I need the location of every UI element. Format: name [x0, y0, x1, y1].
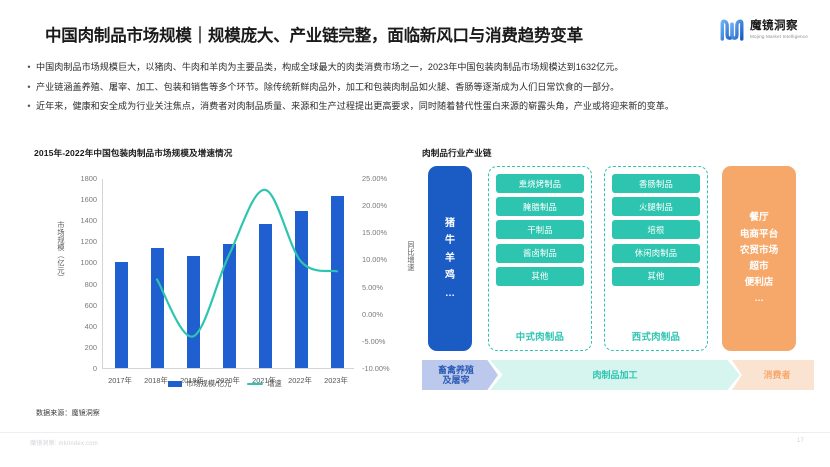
- legend-swatch-line-icon: [247, 383, 263, 385]
- y-tick-right: 5.00%: [362, 283, 404, 292]
- slide: 中国肉制品市场规模｜规模庞大、产业链完整，面临新风口与消费趋势变革 魔镜洞察 M…: [0, 0, 830, 467]
- bullet-list: • 中国肉制品市场规模巨大，以猪肉、牛肉和羊肉为主要品类，构成全球最大的肉类消费…: [22, 60, 817, 119]
- legend-item-bar: 市场规模/亿元: [168, 379, 231, 389]
- chain-chip: 干制品: [496, 220, 584, 239]
- downstream-column: 餐厅电商平台农贸市场超市便利店…: [722, 166, 796, 351]
- growth-line: [157, 190, 337, 337]
- growth-line-series: [103, 179, 355, 369]
- value-chain-title: 肉制品行业产业链: [422, 147, 814, 159]
- ribbon-segment-upstream: 畜禽养殖及屠宰: [422, 360, 498, 390]
- chain-chip: 酱卤制品: [496, 244, 584, 263]
- legend-item-line: 增速: [247, 379, 281, 389]
- page-title: 中国肉制品市场规模｜规模庞大、产业链完整，面临新风口与消费趋势变革: [45, 22, 583, 46]
- chart-source-note: 数据来源：魔镜洞察: [36, 408, 100, 418]
- y-tick-left: 1400: [67, 216, 97, 225]
- y-tick-left: 1800: [67, 174, 97, 183]
- chart-area: 市场规模（亿元） 同比增速 02004006008001000120014001…: [34, 163, 416, 395]
- chart-title: 2015年-2022年中国包装肉制品市场规模及增速情况: [34, 147, 416, 159]
- bullet-marker-icon: •: [22, 80, 36, 95]
- downstream-item: …: [754, 294, 764, 304]
- upstream-item: …: [445, 289, 455, 299]
- legend-swatch-bar-icon: [168, 381, 182, 387]
- western-meat-group: 香肠制品火腿制品培根休闲肉制品其他 西式肉制品: [604, 166, 708, 351]
- chain-chip: 培根: [612, 220, 700, 239]
- chain-chip: 火腿制品: [612, 197, 700, 216]
- upstream-item: 羊: [445, 254, 455, 264]
- y-tick-left: 1200: [67, 237, 97, 246]
- downstream-item: 农贸市场: [740, 246, 778, 256]
- y-axis-left-label: 市场规模（亿元）: [52, 221, 65, 282]
- y-tick-right: 15.00%: [362, 228, 404, 237]
- slide-header: 中国肉制品市场规模｜规模庞大、产业链完整，面临新风口与消费趋势变革 魔镜洞察 M…: [0, 0, 830, 56]
- y-tick-left: 800: [67, 280, 97, 289]
- y-tick-left: 1600: [67, 195, 97, 204]
- bullet-item: • 产业链涵盖养殖、屠宰、加工、包装和销售等多个环节。除传统新鲜肉品外，加工和包…: [22, 80, 817, 95]
- bullet-text: 产业链涵盖养殖、屠宰、加工、包装和销售等多个环节。除传统新鲜肉品外，加工和包装肉…: [36, 80, 817, 95]
- legend-label-line: 增速: [267, 379, 281, 389]
- bullet-text: 近年来，健康和安全成为行业关注焦点，消费者对肉制品质量、来源和生产过程提出更高要…: [36, 99, 817, 114]
- footer-divider: [0, 432, 830, 433]
- chain-chip: 熏烧烤制品: [496, 174, 584, 193]
- plot-region: [102, 179, 354, 369]
- bullet-text: 中国肉制品市场规模巨大，以猪肉、牛肉和羊肉为主要品类，构成全球最大的肉类消费市场…: [36, 60, 817, 75]
- legend-label-bar: 市场规模/亿元: [186, 379, 231, 389]
- bullet-marker-icon: •: [22, 60, 36, 75]
- y-tick-right: -5.00%: [362, 337, 404, 346]
- footer-page-number: 17: [797, 437, 804, 444]
- y-tick-left: 200: [67, 343, 97, 352]
- ribbon-segment-consumer: 消费者: [732, 360, 814, 390]
- bullet-marker-icon: •: [22, 99, 36, 114]
- market-size-chart-panel: 2015年-2022年中国包装肉制品市场规模及增速情况 市场规模（亿元） 同比增…: [34, 147, 416, 419]
- bullet-item: • 中国肉制品市场规模巨大，以猪肉、牛肉和羊肉为主要品类，构成全球最大的肉类消费…: [22, 60, 817, 75]
- logo-name-cn: 魔镜洞察: [750, 20, 808, 33]
- chain-chip: 休闲肉制品: [612, 244, 700, 263]
- logo-m-icon: [719, 17, 745, 43]
- y-tick-left: 400: [67, 322, 97, 331]
- chinese-meat-group: 熏烧烤制品腌腊制品干制品酱卤制品其他 中式肉制品: [488, 166, 592, 351]
- downstream-item: 电商平台: [740, 230, 778, 240]
- chart-legend: 市场规模/亿元 增速: [34, 379, 416, 389]
- chain-chip: 香肠制品: [612, 174, 700, 193]
- brand-logo: 魔镜洞察 Mojing Market Intelligence: [719, 17, 808, 43]
- y-tick-right: 20.00%: [362, 201, 404, 210]
- downstream-item: 餐厅: [749, 213, 768, 223]
- upstream-column: 猪牛羊鸡…: [428, 166, 472, 351]
- y-tick-left: 1000: [67, 258, 97, 267]
- chain-chip: 其他: [612, 267, 700, 286]
- y-tick-left: 0: [67, 364, 97, 373]
- ribbon-upstream-label: 畜禽养殖及屠宰: [438, 365, 474, 386]
- value-chain-body: 猪牛羊鸡… 熏烧烤制品腌腊制品干制品酱卤制品其他 中式肉制品 香肠制品火腿制品培…: [422, 166, 814, 362]
- y-tick-right: 0.00%: [362, 310, 404, 319]
- chinese-meat-items: 熏烧烤制品腌腊制品干制品酱卤制品其他: [496, 174, 584, 286]
- upstream-item: 鸡: [445, 271, 455, 281]
- y-tick-left: 600: [67, 301, 97, 310]
- logo-name-en: Mojing Market Intelligence: [750, 34, 808, 40]
- bullet-item: • 近年来，健康和安全成为行业关注焦点，消费者对肉制品质量、来源和生产过程提出更…: [22, 99, 817, 114]
- chain-chip: 其他: [496, 267, 584, 286]
- y-tick-right: 25.00%: [362, 174, 404, 183]
- western-meat-items: 香肠制品火腿制品培根休闲肉制品其他: [612, 174, 700, 286]
- upstream-item: 牛: [445, 236, 455, 246]
- downstream-item: 超市: [749, 262, 768, 272]
- downstream-item: 便利店: [745, 278, 774, 288]
- logo-text: 魔镜洞察 Mojing Market Intelligence: [750, 20, 808, 40]
- upstream-item: 猪: [445, 219, 455, 229]
- chain-chip: 腌腊制品: [496, 197, 584, 216]
- y-tick-right: -10.00%: [362, 364, 404, 373]
- western-meat-caption: 西式肉制品: [612, 329, 700, 343]
- y-tick-right: 10.00%: [362, 255, 404, 264]
- footer-site: 魔镜洞察: mktindex.com: [30, 438, 98, 447]
- chinese-meat-caption: 中式肉制品: [496, 329, 584, 343]
- value-chain-ribbon: 畜禽养殖及屠宰 肉制品加工 消费者: [422, 360, 814, 390]
- ribbon-segment-processing: 肉制品加工: [490, 360, 740, 390]
